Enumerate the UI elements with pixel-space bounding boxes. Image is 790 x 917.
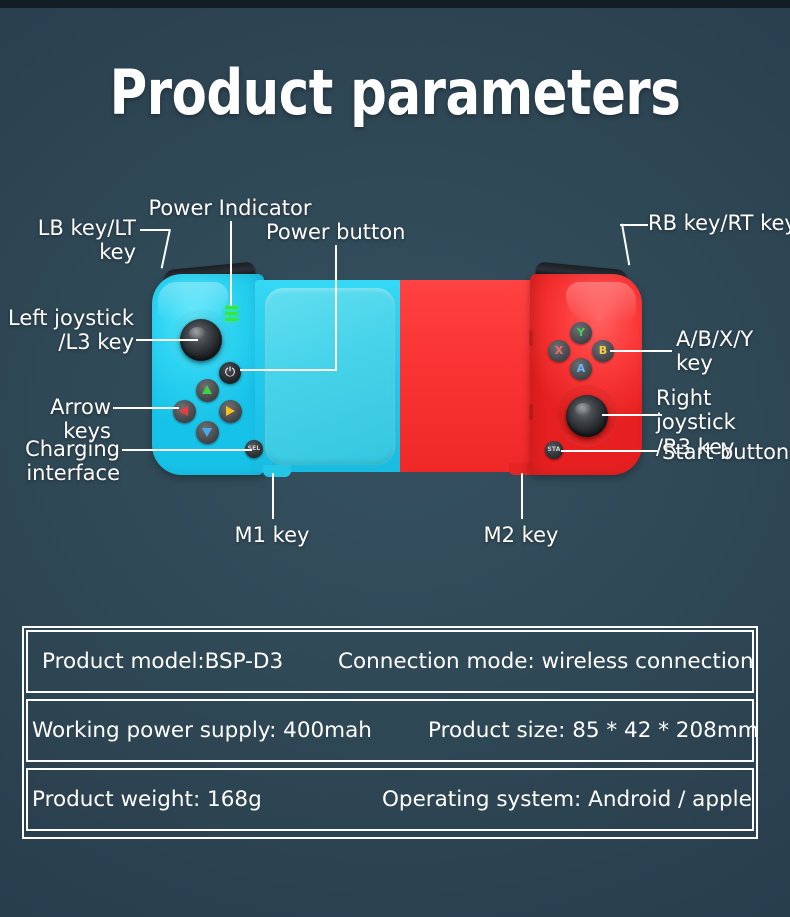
leader-power-button-vertical — [335, 245, 337, 370]
leader-lb-lt — [140, 229, 170, 231]
spec-cell: Operating system: Android / apple — [382, 787, 752, 812]
table-row: Product model:BSP-D3 Connection mode: wi… — [26, 630, 754, 693]
leader-abxy — [610, 350, 672, 352]
callout-rb-rt: RB key/RT key — [648, 211, 790, 235]
right-grip-seam — [529, 404, 533, 420]
dpad-down-button[interactable] — [196, 421, 219, 444]
leader-m2 — [521, 473, 523, 519]
leader-m1 — [272, 473, 274, 519]
led-bar — [225, 306, 238, 309]
table-row: Product weight: 168g Operating system: A… — [26, 768, 754, 831]
leader-rb-rt — [620, 224, 648, 226]
dpad-left-button[interactable] — [173, 400, 196, 423]
spec-cell: Product size: 85 * 42 * 208mm — [428, 718, 759, 743]
right-grip-seam — [529, 330, 533, 346]
leader-left-joystick — [136, 339, 198, 341]
led-bar — [225, 312, 238, 315]
triangle-right-icon — [226, 406, 235, 416]
table-row: Working power supply: 400mah Product siz… — [26, 699, 754, 762]
triangle-up-icon — [202, 385, 212, 394]
callout-lb-lt: LB key/LT key — [0, 216, 136, 265]
dpad-right-button[interactable] — [219, 400, 242, 423]
callout-m2: M2 key — [451, 523, 591, 547]
spec-cell: Product weight: 168g — [32, 787, 262, 812]
callout-m1: M1 key — [202, 523, 342, 547]
callout-left-joystick: Left joystick /L3 key — [0, 306, 134, 355]
leader-start-button — [561, 450, 659, 452]
a-button[interactable]: A — [570, 358, 592, 380]
leader-right-joystick — [602, 414, 662, 416]
y-button[interactable]: Y — [570, 322, 592, 344]
leader-power-indicator — [230, 221, 232, 306]
triangle-left-icon — [179, 406, 188, 416]
leader-power-button-horizontal — [240, 369, 337, 371]
leader-charging-interface — [122, 449, 252, 451]
red-body-panel — [400, 280, 548, 472]
callout-start-button: Start button — [662, 440, 790, 464]
dpad-up-button[interactable] — [196, 379, 219, 402]
m1-shoulder-notch[interactable] — [263, 465, 291, 477]
right-joystick[interactable] — [566, 395, 608, 437]
x-button[interactable]: X — [548, 340, 570, 362]
spec-cell: Working power supply: 400mah — [32, 718, 372, 743]
power-button[interactable]: ⏻ — [219, 362, 241, 384]
callout-power-button: Power button — [266, 220, 486, 244]
spec-cell: Connection mode: wireless connection — [338, 649, 754, 674]
callout-charging: Charging interface — [0, 437, 120, 486]
callout-power-indicator: Power Indicator — [130, 196, 330, 220]
led-bar — [225, 318, 238, 321]
callout-abxy: A/B/X/Y key — [676, 327, 790, 376]
triangle-down-icon — [202, 428, 212, 437]
phone-clamp-tray — [265, 288, 395, 465]
page-root: Product parameters ⏻ — [0, 0, 790, 917]
leader-arrow-keys — [113, 407, 179, 409]
spec-cell: Product model:BSP-D3 — [42, 649, 283, 674]
